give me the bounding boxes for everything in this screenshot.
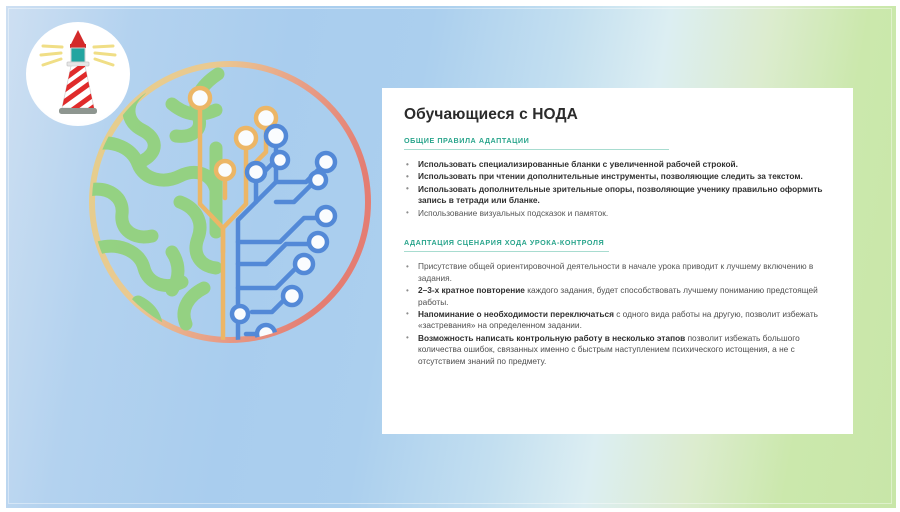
lighthouse-icon bbox=[26, 22, 130, 126]
section-general-rules: ОБЩИЕ ПРАВИЛА АДАПТАЦИИ Использовать спе… bbox=[404, 136, 831, 219]
list-item: Возможность написать контрольную работу … bbox=[404, 333, 831, 367]
list-item: Использование визуальных подсказок и пам… bbox=[404, 208, 831, 219]
list-item: Напоминание о необходимости переключатьс… bbox=[404, 309, 831, 332]
section-lesson-scenario-adaptation: АДАПТАЦИЯ СЦЕНАРИЯ ХОДА УРОКА-КОНТРОЛЯ П… bbox=[404, 238, 831, 367]
slide-edge-left bbox=[0, 0, 6, 512]
slide-edge-right bbox=[896, 0, 900, 512]
bullet-list-lesson-scenario: Присутствие общей ориентировочной деятел… bbox=[404, 261, 831, 367]
list-item: Присутствие общей ориентировочной деятел… bbox=[404, 261, 831, 284]
list-item: Использовать дополнительные зрительные о… bbox=[404, 184, 831, 207]
content-card: Обучающиеся с НОДА ОБЩИЕ ПРАВИЛА АДАПТАЦ… bbox=[382, 88, 853, 434]
list-item: 2–3-х кратное повторение каждого задания… bbox=[404, 285, 831, 308]
list-item: Использовать специализированные бланки с… bbox=[404, 159, 831, 170]
slide-canvas: Обучающиеся с НОДА ОБЩИЕ ПРАВИЛА АДАПТАЦ… bbox=[0, 0, 900, 512]
lighthouse-logo bbox=[26, 22, 130, 126]
list-item-lead: Напоминание о необходимости переключатьс… bbox=[418, 309, 616, 319]
slide-edge-top bbox=[0, 0, 900, 6]
list-item: Использовать при чтении дополнительные и… bbox=[404, 171, 831, 182]
list-item-lead: 2–3-х кратное повторение bbox=[418, 285, 527, 295]
section-heading-general-rules: ОБЩИЕ ПРАВИЛА АДАПТАЦИИ bbox=[404, 136, 669, 150]
list-item-lead: Возможность написать контрольную работу … bbox=[418, 333, 688, 343]
section-heading-lesson-scenario: АДАПТАЦИЯ СЦЕНАРИЯ ХОДА УРОКА-КОНТРОЛЯ bbox=[404, 238, 609, 252]
slide-edge-bottom bbox=[0, 508, 900, 512]
bullet-list-general-rules: Использовать специализированные бланки с… bbox=[404, 159, 831, 219]
section-spacer bbox=[404, 220, 831, 238]
page-title: Обучающиеся с НОДА bbox=[404, 106, 831, 124]
